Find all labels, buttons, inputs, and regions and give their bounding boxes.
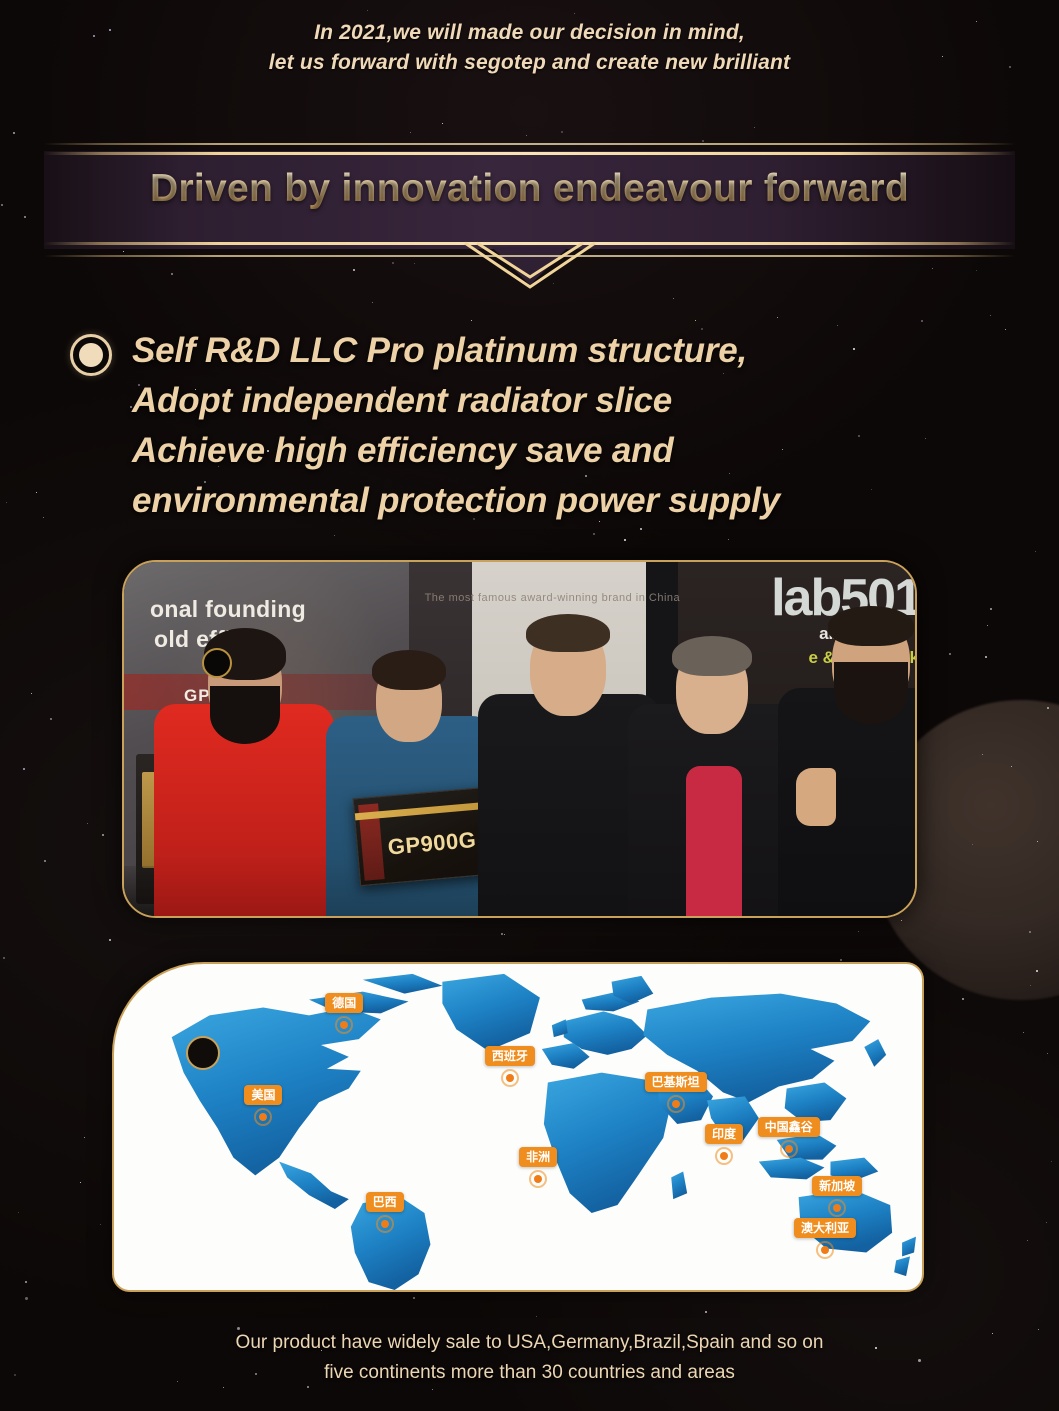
star: [501, 933, 503, 935]
star: [504, 934, 505, 935]
map-pin-1[interactable]: 西班牙: [485, 1046, 535, 1087]
map-pin-label: 德国: [325, 993, 363, 1013]
banner-title: Driven by innovation endeavour forward: [44, 167, 1015, 211]
caption-line-2: five continents more than 30 countries a…: [0, 1358, 1059, 1388]
headline-banner: Driven by innovation endeavour forward: [44, 143, 1015, 273]
star: [109, 939, 111, 941]
map-pin-4[interactable]: 非洲: [519, 1147, 557, 1188]
person-4-inner-shirt: [686, 766, 742, 916]
backdrop-mid-text: The most famous award-winning brand in C…: [425, 592, 681, 604]
team-photo: onal founding old effici GP7 The most fa…: [124, 562, 915, 916]
star: [1005, 329, 1006, 330]
map-pin-marker-icon: [335, 1016, 353, 1034]
person-5: [774, 598, 915, 916]
headline-line-4: environmental protection power supply: [132, 476, 970, 526]
map-pin-label: 巴西: [366, 1192, 404, 1212]
map-pin-label: 印度: [705, 1124, 743, 1144]
star: [1011, 766, 1012, 767]
tagline-line-2: let us forward with segotep and create n…: [0, 48, 1059, 78]
headline-lines: Self R&D LLC Pro platinum structure, Ado…: [132, 326, 970, 526]
star: [536, 1316, 537, 1317]
ring-bullet-icon: [70, 334, 112, 376]
star: [80, 1182, 81, 1183]
star: [985, 656, 987, 658]
star: [574, 13, 575, 14]
map-pin-marker-icon: [715, 1147, 733, 1165]
star: [432, 1389, 433, 1390]
star: [858, 931, 859, 932]
star: [728, 539, 729, 540]
headline-line-2: Adopt independent radiator slice: [132, 376, 970, 426]
star: [640, 528, 642, 530]
star: [1036, 970, 1038, 972]
star: [982, 754, 983, 755]
poster-canvas: In 2021,we will made our decision in min…: [0, 0, 1059, 1411]
team-photo-card: onal founding old effici GP7 The most fa…: [122, 560, 917, 918]
person-1: [150, 616, 340, 916]
star: [702, 140, 704, 142]
map-pin-label: 新加坡: [812, 1176, 862, 1196]
map-punch-hole: [186, 1036, 220, 1070]
photo-punch-hole: [202, 648, 232, 678]
tagline-line-1: In 2021,we will made our decision in min…: [0, 18, 1059, 48]
star: [171, 273, 173, 275]
feature-headline: Self R&D LLC Pro platinum structure, Ado…: [70, 326, 970, 526]
star: [705, 1311, 707, 1313]
headline-line-3: Achieve high efficiency save and: [132, 426, 970, 476]
map-pin-7[interactable]: 新加坡: [812, 1176, 862, 1217]
star: [1051, 1161, 1052, 1162]
map-pin-5[interactable]: 印度: [705, 1124, 743, 1165]
person-5-thumbs-up-icon: [796, 768, 836, 826]
star: [44, 860, 46, 862]
headline-line-1: Self R&D LLC Pro platinum structure,: [132, 326, 970, 376]
banner-top-line-inner: [44, 152, 1015, 155]
map-pin-label: 澳大利亚: [794, 1218, 856, 1238]
star: [442, 123, 443, 124]
star: [949, 653, 951, 655]
map-pin-label: 巴基斯坦: [645, 1072, 707, 1092]
person-3-hair: [526, 614, 610, 652]
top-tagline: In 2021,we will made our decision in min…: [0, 18, 1059, 78]
person-4-hair: [672, 636, 752, 676]
map-pin-9[interactable]: 巴西: [366, 1192, 404, 1233]
star: [25, 1297, 28, 1300]
map-pin-marker-icon: [529, 1170, 547, 1188]
product-box-name: GP900G: [387, 827, 478, 861]
map-pin-label: 西班牙: [485, 1046, 535, 1066]
map-pin-3[interactable]: 巴基斯坦: [645, 1072, 707, 1113]
star: [526, 135, 527, 136]
banner-top-line-outer: [44, 143, 1015, 145]
map-pin-marker-icon: [376, 1215, 394, 1233]
bottom-caption: Our product have widely sale to USA,Germ…: [0, 1328, 1059, 1388]
map-pin-0[interactable]: 德国: [325, 993, 363, 1034]
star: [1037, 841, 1038, 842]
star: [561, 131, 563, 133]
map-pin-marker-icon: [501, 1069, 519, 1087]
map-pin-label: 中国鑫谷: [758, 1117, 820, 1137]
star: [901, 920, 902, 921]
map-pin-marker-icon: [780, 1140, 798, 1158]
map-pin-marker-icon: [254, 1108, 272, 1126]
person-2-hair: [372, 650, 446, 690]
map-pin-6[interactable]: 中国鑫谷: [758, 1117, 820, 1158]
map-pin-marker-icon: [667, 1095, 685, 1113]
map-pin-marker-icon: [816, 1241, 834, 1259]
banner-chevron-icon: [455, 239, 605, 295]
caption-line-1: Our product have widely sale to USA,Germ…: [0, 1328, 1059, 1358]
star: [471, 320, 472, 321]
person-5-hair: [828, 606, 914, 646]
map-pin-2[interactable]: 美国: [244, 1085, 282, 1126]
map-pin-marker-icon: [828, 1199, 846, 1217]
person-5-beard: [834, 662, 908, 724]
star: [13, 132, 15, 134]
map-pin-8[interactable]: 澳大利亚: [794, 1218, 856, 1259]
person-1-beard: [210, 686, 280, 744]
star: [25, 1281, 27, 1283]
star: [754, 127, 755, 128]
map-pin-label: 美国: [244, 1085, 282, 1105]
world-map-card: 德国西班牙美国巴基斯坦非洲印度中国鑫谷新加坡澳大利亚巴西: [112, 962, 924, 1292]
map-pin-label: 非洲: [519, 1147, 557, 1167]
star: [1047, 1053, 1048, 1054]
